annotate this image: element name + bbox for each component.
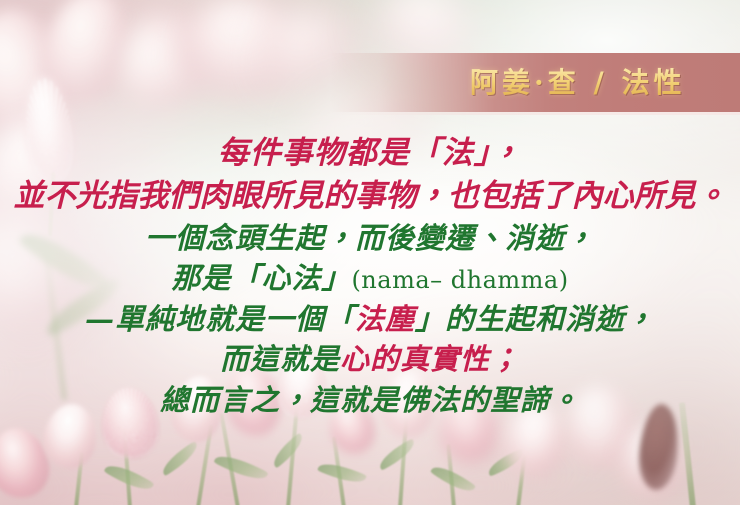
verse-segment: 每件事物都是「法」， xyxy=(218,135,523,171)
verse-segment-highlight: 法塵 xyxy=(355,302,415,336)
verse-segment: 並不光指我們肉眼所見的事物，也包括了內心所見。 xyxy=(14,178,727,214)
quote-poster: 阿姜·查 / 法性 每件事物都是「法」， 並不光指我們肉眼所見的事物，也包括了內… xyxy=(0,0,740,505)
quote-body: 每件事物都是「法」， 並不光指我們肉眼所見的事物，也包括了內心所見。 一個念頭生… xyxy=(0,138,740,415)
verse-line-2: 並不光指我們肉眼所見的事物，也包括了內心所見。 xyxy=(0,181,740,212)
verse-segment: 總而言之，這就是佛法的聖諦。 xyxy=(160,383,580,417)
verse-segment-latin: (nama– dhamma) xyxy=(351,266,568,294)
verse-line-4: 那是「心法」(nama– dhamma) xyxy=(0,264,740,293)
verse-segment: —單純地就是一個「 xyxy=(85,302,355,336)
verse-segment-highlight: 心的真實性； xyxy=(340,342,520,376)
verse-segment: 而這就是 xyxy=(220,342,340,376)
verse-line-3: 一個念頭生起，而後變遷、消逝， xyxy=(0,224,740,253)
verse-line-6: 而這就是心的真實性； xyxy=(0,345,740,374)
verse-segment: 那是「心法」 xyxy=(171,261,351,295)
verse-line-7: 總而言之，這就是佛法的聖諦。 xyxy=(0,386,740,415)
verse-segment: 」的生起和消逝， xyxy=(415,302,655,336)
verse-line-1: 每件事物都是「法」， xyxy=(0,138,740,169)
verse-line-5: —單純地就是一個「法塵」的生起和消逝， xyxy=(0,305,740,334)
verse-segment: 一個念頭生起，而後變遷、消逝， xyxy=(145,221,595,255)
title-text: 阿姜·查 / 法性 xyxy=(470,62,720,104)
